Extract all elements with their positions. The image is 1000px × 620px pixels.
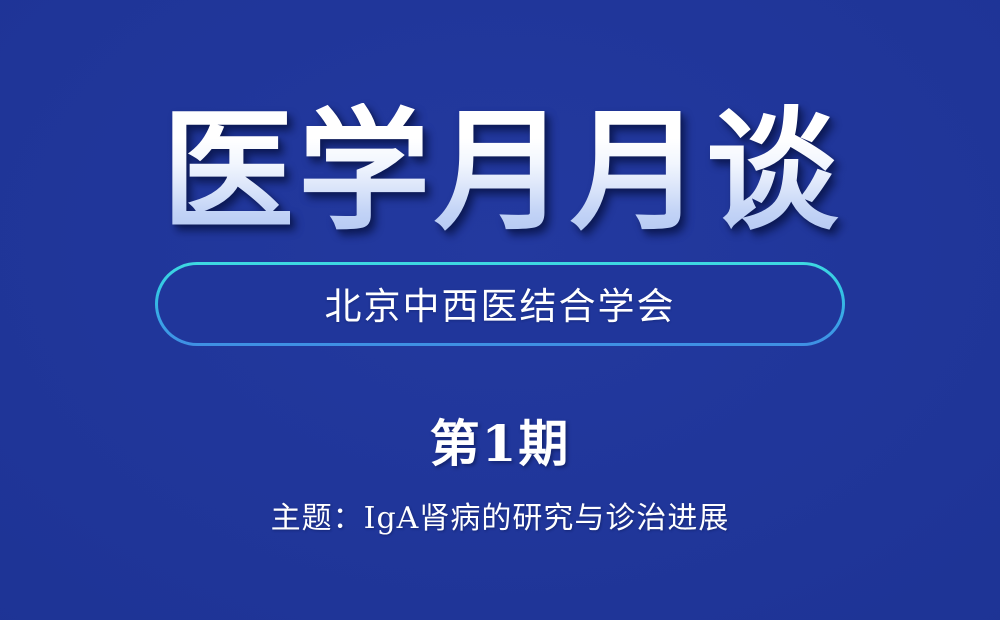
issue-number: 第1期 — [430, 404, 571, 476]
topic-text: 主题：IgA肾病的研究与诊治进展 — [271, 493, 730, 537]
page-title: 医学月月谈 — [158, 103, 842, 240]
issue-block: 第1期 — [0, 404, 1000, 476]
organization-pill: 北京中西医结合学会 — [155, 262, 845, 346]
title-block: 医学月月谈 — [0, 103, 1000, 240]
organization-pill-inner: 北京中西医结合学会 — [158, 265, 842, 343]
poster-canvas: 医学月月谈 北京中西医结合学会 第1期 主题：IgA肾病的研究与诊治进展 — [0, 0, 1000, 620]
topic-block: 主题：IgA肾病的研究与诊治进展 — [0, 493, 1000, 537]
organization-name: 北京中西医结合学会 — [325, 276, 676, 330]
